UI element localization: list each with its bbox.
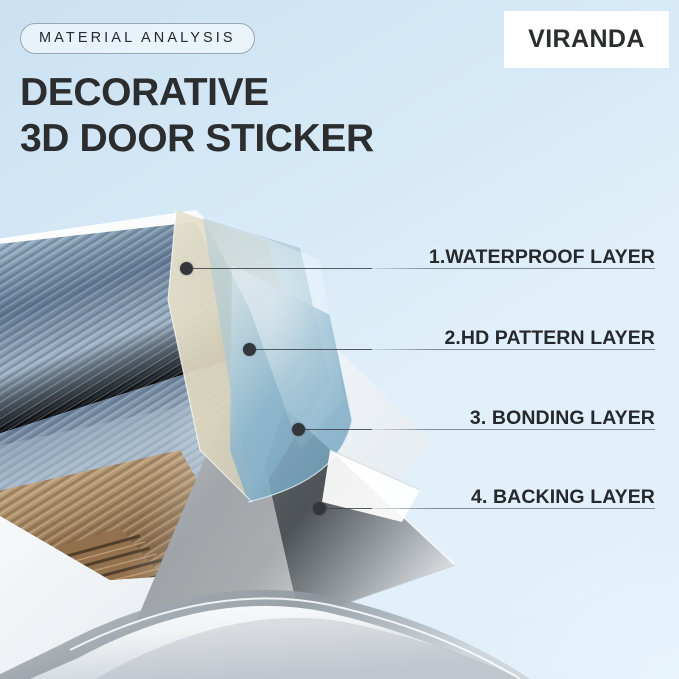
label-rule-2: [368, 349, 655, 350]
page-title: DECORATIVE 3D DOOR STICKER: [20, 70, 374, 161]
label-rule-1: [368, 268, 655, 269]
label-bonding-layer: 3. BONDING LAYER: [470, 407, 655, 430]
leader-dot-1: [180, 262, 193, 275]
leader-dot-4: [313, 502, 326, 515]
leader-line-4: [325, 508, 372, 509]
brand-logo-box: VIRANDA: [505, 12, 668, 67]
leader-line-1: [192, 268, 372, 269]
badge-material-analysis: MATERIAL ANALYSIS: [20, 23, 255, 54]
label-waterproof-layer: 1.WATERPROOF LAYER: [429, 246, 655, 269]
page-title-line1: DECORATIVE: [20, 71, 269, 114]
label-rule-3: [368, 429, 655, 430]
label-rule-4: [368, 508, 655, 509]
leader-line-2: [255, 349, 372, 350]
label-backing-layer: 4. BACKING LAYER: [471, 486, 655, 509]
leader-line-3: [304, 429, 372, 430]
page-title-line2: 3D DOOR STICKER: [20, 116, 374, 162]
leader-dot-3: [292, 423, 305, 436]
label-hd-pattern-layer: 2.HD PATTERN LAYER: [444, 327, 655, 350]
leader-dot-2: [243, 343, 256, 356]
poster-canvas: MATERIAL ANALYSIS DECORATIVE 3D DOOR STI…: [0, 0, 679, 679]
brand-logo-text: VIRANDA: [528, 25, 645, 54]
